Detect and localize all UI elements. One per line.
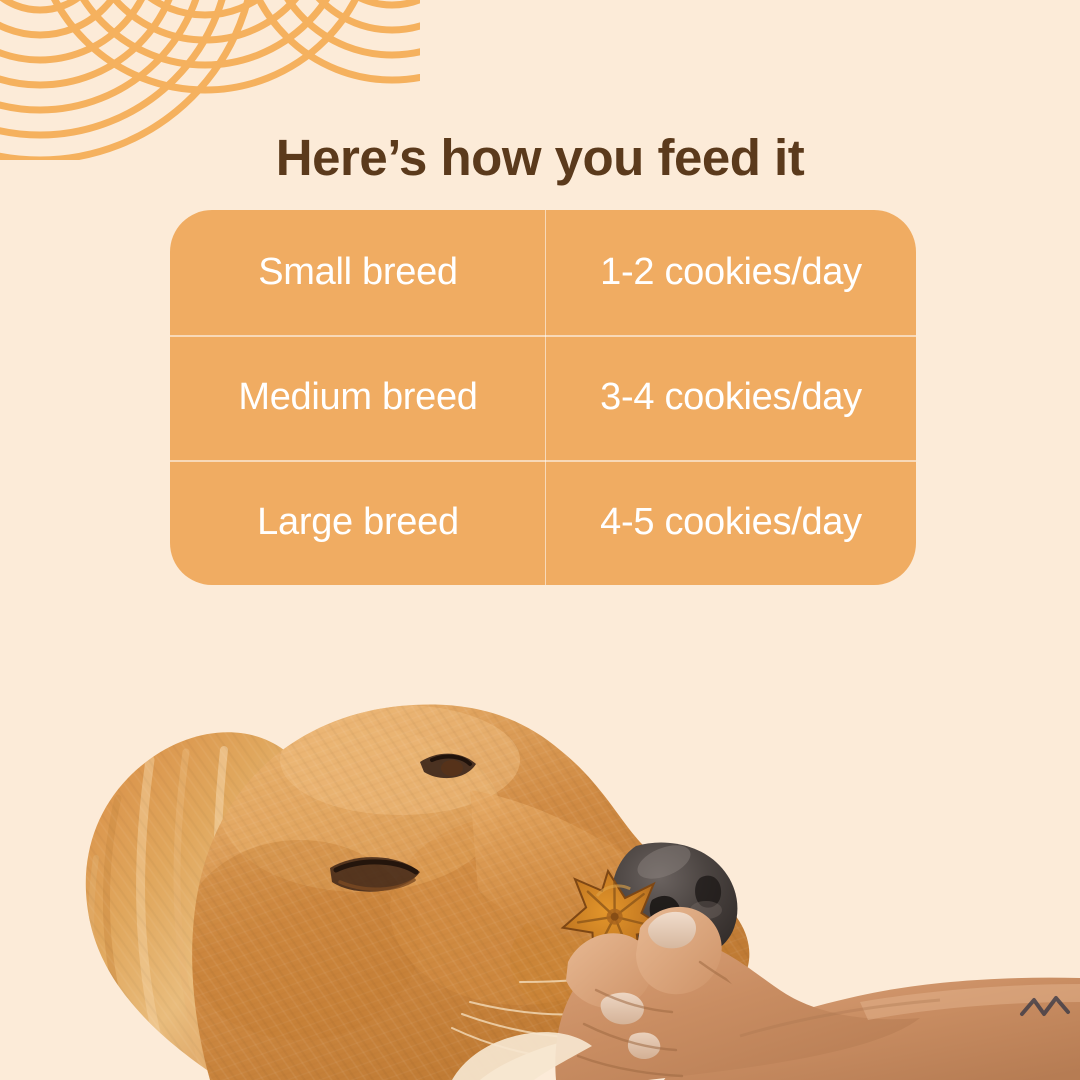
feeding-guide-table: Small breed 1-2 cookies/day Medium breed… [170, 210, 916, 585]
dog-sniffing-cookie-photo [0, 610, 1080, 1080]
cell-amount: 1-2 cookies/day [546, 210, 916, 335]
table-row: Large breed 4-5 cookies/day [170, 460, 916, 585]
cell-amount: 3-4 cookies/day [546, 335, 916, 460]
table-row: Medium breed 3-4 cookies/day [170, 335, 916, 460]
table-row: Small breed 1-2 cookies/day [170, 210, 916, 335]
cell-breed: Medium breed [170, 335, 546, 460]
cell-amount: 4-5 cookies/day [546, 460, 916, 585]
cell-breed: Large breed [170, 460, 546, 585]
page-title: Here’s how you feed it [0, 128, 1080, 187]
feeding-guide-poster: Here’s how you feed it Small breed 1-2 c… [0, 0, 1080, 1080]
cell-breed: Small breed [170, 210, 546, 335]
